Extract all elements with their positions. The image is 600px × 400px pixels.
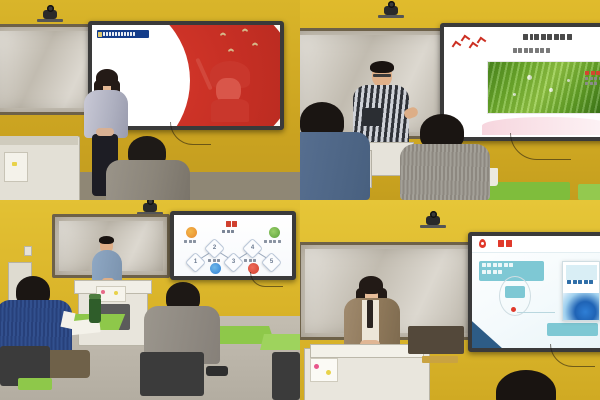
green-chair <box>272 352 300 400</box>
node-label-1 <box>184 240 196 243</box>
lectern-paper <box>4 152 28 182</box>
presenter-shirt-pocket <box>362 108 382 126</box>
ceiling-camera-icon <box>426 216 440 225</box>
panel-bottom-left: 1 2 3 4 5 <box>0 200 300 400</box>
pink-dot <box>314 364 319 369</box>
panel-top-left <box>0 0 300 200</box>
presenter-glasses <box>373 74 391 77</box>
ceiling-camera-icon <box>143 203 157 212</box>
wall-shadow <box>408 326 464 354</box>
lectern-top <box>310 344 424 358</box>
node-label-2 <box>208 259 220 262</box>
slide-corner-wedge <box>472 321 502 348</box>
red-birds-graphic <box>453 36 484 54</box>
pink-dot <box>101 290 105 294</box>
slide-diagram-subtitle <box>222 230 234 233</box>
slide-center-label <box>505 286 525 297</box>
chair-seat <box>18 378 52 390</box>
chair-armrest <box>206 366 228 376</box>
diagram-node-4: 4 <box>242 238 263 259</box>
yellow-dot <box>114 291 118 295</box>
green-chair <box>140 352 204 396</box>
slide-presenter-label <box>132 95 159 98</box>
green-desk <box>578 184 600 200</box>
slide-subheading <box>513 48 550 53</box>
attendee-torso <box>400 144 490 200</box>
book-cover <box>562 261 599 321</box>
slide-header <box>498 240 512 247</box>
panel-top-right <box>300 0 600 200</box>
presenter-hair <box>370 61 394 73</box>
slide-top-bar <box>472 236 600 253</box>
ceiling-camera-icon <box>384 6 398 15</box>
slide-heading <box>523 34 572 40</box>
ceiling-camera-icon <box>43 10 57 19</box>
green-thermos <box>89 297 101 323</box>
wall-display: 1 2 3 4 5 <box>170 211 296 280</box>
slide-diagram: 1 2 3 4 5 <box>174 215 292 276</box>
presenter-hair <box>99 236 114 244</box>
dove-icon <box>228 49 234 52</box>
lectern-trim <box>422 356 458 363</box>
node-icon-2 <box>210 263 221 274</box>
lectern-top <box>0 136 78 145</box>
presenter-hands <box>96 128 114 136</box>
classroom-photo-collage: 1 2 3 4 5 <box>0 0 600 400</box>
slide-title-line-1 <box>104 55 181 63</box>
slide-content <box>444 27 600 137</box>
dove-icon <box>220 33 226 36</box>
location-pin-icon <box>479 239 486 248</box>
node-icon-1 <box>186 227 197 238</box>
panel-bottom-right <box>300 200 600 400</box>
attendee-torso <box>106 160 190 200</box>
thermos-lid <box>89 294 101 299</box>
node-icon-4 <box>269 227 280 238</box>
slide-textbook <box>472 236 600 348</box>
slide-bottom-label <box>547 323 599 335</box>
wall-display <box>468 232 600 352</box>
slide-diagram-title-glyphs <box>226 221 238 227</box>
dove-icon <box>242 29 248 32</box>
slide-side-note <box>585 71 600 85</box>
grass-photo <box>487 61 600 114</box>
node-label-5 <box>264 240 281 243</box>
lectern-sticky-note <box>12 162 17 166</box>
dove-icon <box>252 43 258 46</box>
slide-connector-line <box>517 312 555 313</box>
node-label-4 <box>244 259 256 262</box>
diagram-node-5: 5 <box>261 252 282 273</box>
soldier-graphic <box>210 61 250 119</box>
slide-date-label <box>130 105 161 108</box>
green-desk <box>260 334 300 350</box>
wall-display <box>440 23 600 141</box>
presenter-tie <box>367 300 373 328</box>
lectern-paper <box>310 358 338 382</box>
wall-switch <box>24 246 32 256</box>
attendee-torso <box>300 132 370 200</box>
slide-subtitle <box>114 81 163 85</box>
yellow-dot <box>326 370 331 375</box>
diagram-node-2: 2 <box>204 238 225 259</box>
college-logo <box>97 30 149 38</box>
